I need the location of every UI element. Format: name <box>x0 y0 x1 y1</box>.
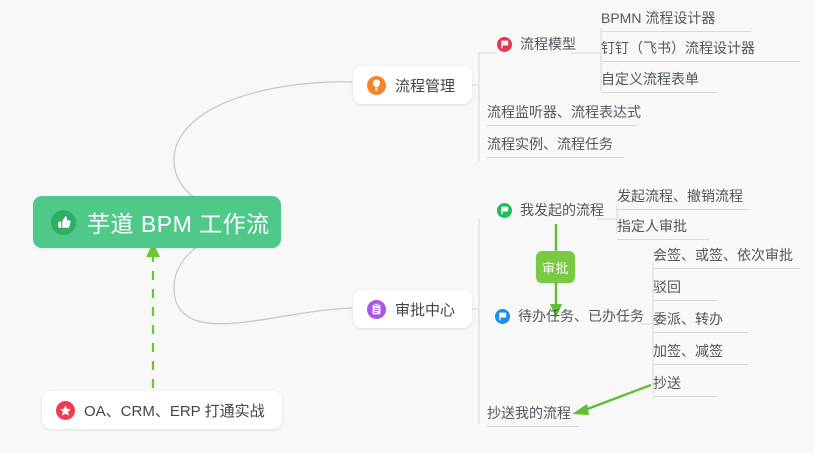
clipboard-icon <box>367 300 386 319</box>
leaf-process-instance[interactable]: 流程实例、流程任务 <box>487 136 624 158</box>
branch-label-approval-center: 审批中心 <box>395 299 455 320</box>
leaf-reject[interactable]: 驳回 <box>653 279 718 301</box>
leaf-label-bpmn-designer: BPMN 流程设计器 <box>601 10 715 26</box>
leaf-label-process-model: 流程模型 <box>520 36 576 52</box>
star-icon <box>56 401 75 420</box>
leaf-label-todo-done-tasks: 待办任务、已办任务 <box>518 308 644 324</box>
thumbs-up-icon <box>51 210 76 235</box>
leaf-label-assignee-approval: 指定人审批 <box>617 218 687 234</box>
leaf-add-remove-sign[interactable]: 加签、减签 <box>653 343 748 365</box>
branch-label-process-management: 流程管理 <box>395 75 455 96</box>
mindmap-canvas: 芋道 BPM 工作流 流程管理 审批中心 <box>0 0 814 453</box>
leaf-cc[interactable]: 抄送 <box>653 375 718 397</box>
leaf-label-dingtalk-designer: 钉钉（飞书）流程设计器 <box>601 40 755 56</box>
leaf-my-initiated[interactable]: 我发起的流程 <box>497 202 604 223</box>
leaf-label-reject: 驳回 <box>653 279 681 295</box>
leaf-label-cc: 抄送 <box>653 375 681 391</box>
leaf-cc-to-me[interactable]: 抄送我的流程 <box>487 405 579 427</box>
leaf-label-add-remove-sign: 加签、减签 <box>653 343 723 359</box>
leaf-label-start-cancel-process: 发起流程、撤销流程 <box>617 188 743 204</box>
leaf-dingtalk-designer[interactable]: 钉钉（飞书）流程设计器 <box>601 40 800 62</box>
leaf-bpmn-designer[interactable]: BPMN 流程设计器 <box>601 10 751 32</box>
lightbulb-icon <box>367 76 386 95</box>
leaf-process-model[interactable]: 流程模型 <box>497 36 576 57</box>
flag-icon <box>497 203 512 218</box>
leaf-custom-form[interactable]: 自定义流程表单 <box>601 71 718 93</box>
flag-icon <box>497 37 512 52</box>
leaf-label-countersign: 会签、或签、依次审批 <box>653 247 793 263</box>
arrow-cc-to-myccflow <box>582 385 651 411</box>
leaf-label-my-initiated: 我发起的流程 <box>520 202 604 218</box>
leaf-label-cc-to-me: 抄送我的流程 <box>487 405 571 421</box>
leaf-process-listener[interactable]: 流程监听器、流程表达式 <box>487 104 637 126</box>
leaf-label-process-listener: 流程监听器、流程表达式 <box>487 104 641 120</box>
leaf-label-process-instance: 流程实例、流程任务 <box>487 136 613 152</box>
flag-icon <box>495 309 510 324</box>
root-label: 芋道 BPM 工作流 <box>87 205 270 239</box>
leaf-assignee-approval[interactable]: 指定人审批 <box>617 218 709 240</box>
footnote-label: OA、CRM、ERP 打通实战 <box>84 400 265 421</box>
leaf-todo-done-tasks[interactable]: 待办任务、已办任务 <box>495 308 644 329</box>
approval-badge: 审批 <box>536 251 575 283</box>
leaf-label-delegate-transfer: 委派、转办 <box>653 311 723 327</box>
branch-node-approval-center[interactable]: 审批中心 <box>353 290 472 328</box>
branch-node-process-management[interactable]: 流程管理 <box>353 66 472 104</box>
leaf-label-custom-form: 自定义流程表单 <box>601 71 699 87</box>
leaf-delegate-transfer[interactable]: 委派、转办 <box>653 311 748 333</box>
leaf-start-cancel-process[interactable]: 发起流程、撤销流程 <box>617 188 750 210</box>
leaf-countersign[interactable]: 会签、或签、依次审批 <box>653 247 800 269</box>
footnote-node-integration[interactable]: OA、CRM、ERP 打通实战 <box>42 391 282 429</box>
approval-badge-label: 审批 <box>542 258 569 277</box>
root-node[interactable]: 芋道 BPM 工作流 <box>33 196 281 248</box>
